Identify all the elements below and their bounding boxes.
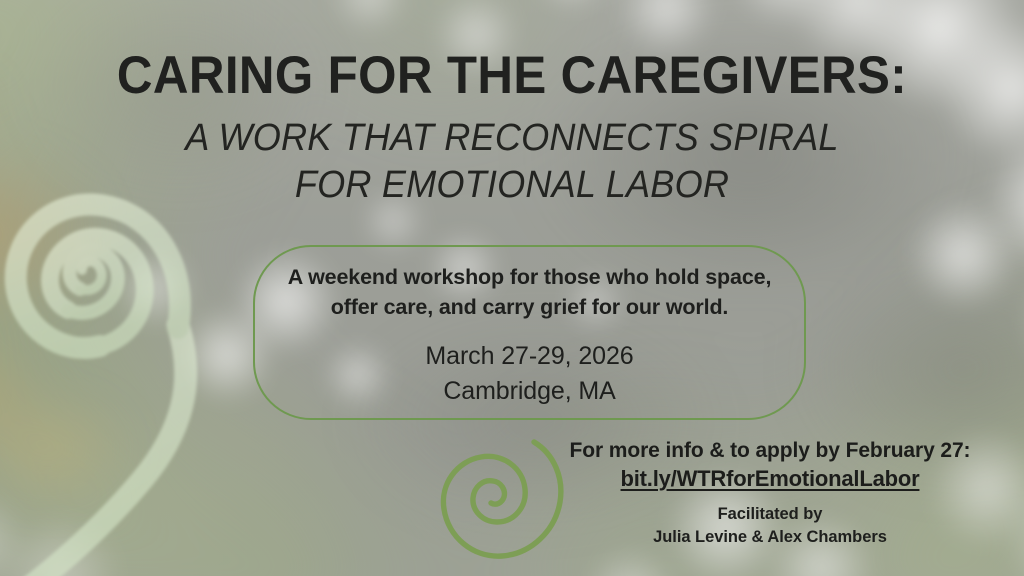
- cta-block: For more info & to apply by February 27:…: [530, 437, 1010, 549]
- workshop-description-line-1: A weekend workshop for those who hold sp…: [255, 262, 804, 292]
- facilitated-by-label: Facilitated by: [530, 503, 1010, 526]
- facilitator-names: Julia Levine & Alex Chambers: [530, 526, 1010, 549]
- event-date: March 27-29, 2026: [255, 339, 804, 374]
- cta-info-line: For more info & to apply by February 27:: [530, 437, 1010, 464]
- event-location: Cambridge, MA: [255, 374, 804, 409]
- page-title: CARING FOR THE CAREGIVERS:: [36, 48, 988, 104]
- page-subtitle-line-2: FOR EMOTIONAL LABOR: [26, 162, 999, 208]
- page-subtitle-line-1: A WORK THAT RECONNECTS SPIRAL: [26, 115, 999, 161]
- info-box: A weekend workshop for those who hold sp…: [253, 245, 806, 420]
- poster-canvas: CARING FOR THE CAREGIVERS: A WORK THAT R…: [0, 0, 1024, 576]
- workshop-description-line-2: offer care, and carry grief for our worl…: [255, 292, 804, 322]
- headline-block: CARING FOR THE CAREGIVERS: A WORK THAT R…: [0, 48, 1024, 208]
- apply-link[interactable]: bit.ly/WTRforEmotionalLabor: [621, 464, 920, 494]
